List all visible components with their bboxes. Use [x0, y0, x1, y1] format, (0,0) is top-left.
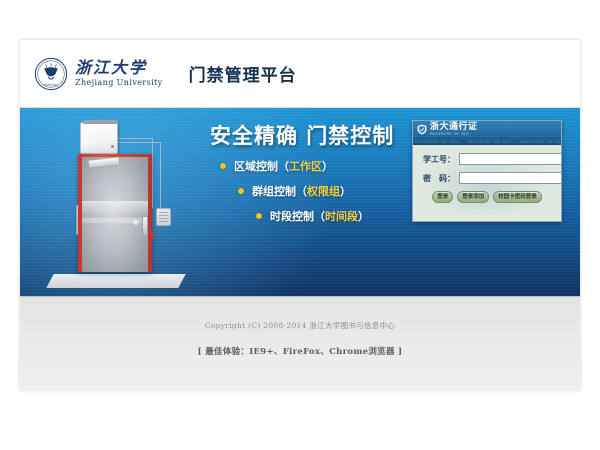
feature-label: 群组控制（ [252, 183, 307, 199]
door-leaf [82, 157, 148, 272]
user-id-label: 学工号： [419, 154, 455, 165]
strip-text: PASSPORT OF ZJU [415, 140, 459, 144]
login-panel: 浙大通行证 PASSPORT OF ZJU PASSPORT OF ZJU PA… [412, 120, 562, 222]
login-panel-strip: PASSPORT OF ZJU PASSPORT OF ZJU PASSPORT… [413, 138, 561, 145]
controller-box-icon [80, 122, 118, 154]
page-frame: ZHEJIANG 浙江大学 Zhejiang University 门禁管理平台 [20, 40, 580, 390]
hero-banner: 安全精确 门禁控制 区域控制（ 工作区 ） 群组控制（ 权限组 ） 时段控制（ … [20, 108, 580, 296]
wire-segment [160, 142, 161, 208]
banner-headline: 安全精确 门禁控制 [210, 120, 394, 150]
feature-tail: ） [322, 158, 333, 174]
university-name-en: Zhejiang University [75, 79, 163, 87]
copyright-text: Copyright (C) 2008-2014 浙江大学图书与信息中心 [205, 320, 395, 331]
login-button-row: 登录 登录添加 校园卡密码登录 [419, 191, 555, 203]
password-input[interactable] [459, 172, 562, 184]
list-item: 区域控制（ 工作区 ） [220, 158, 369, 174]
login-panel-header: 浙大通行证 PASSPORT OF ZJU [413, 121, 561, 138]
page-title: 门禁管理平台 [189, 61, 297, 86]
floor-plane [46, 274, 185, 288]
strip-text: PASSPORT OF ZJU [520, 140, 561, 144]
user-id-input[interactable] [459, 153, 562, 165]
university-wordmark: 浙江大学 Zhejiang University [75, 60, 163, 87]
login-panel-title-cn: 浙大通行证 [430, 123, 478, 132]
svg-text:ZHEJIANG: ZHEJIANG [44, 83, 59, 87]
bullet-dot-icon [238, 188, 244, 194]
login-add-button[interactable]: 登录添加 [457, 191, 489, 203]
strip-text: PASSPORT OF ZJU [468, 140, 512, 144]
door-frame [78, 154, 152, 272]
feature-accent: 时间段 [325, 208, 358, 224]
wire-segment [116, 142, 160, 143]
bullet-dot-icon [256, 213, 262, 219]
wire-segment [152, 138, 153, 208]
browser-support-note: [ 最佳体验：IE9+、FireFox、Chrome浏览器 ] [198, 345, 403, 357]
campus-card-login-button[interactable]: 校园卡密码登录 [493, 191, 542, 203]
password-row: 密 码： [419, 172, 555, 184]
zju-seal-icon: ZHEJIANG [34, 57, 68, 91]
wire-segment [116, 138, 152, 139]
access-control-door-illustration [42, 116, 190, 296]
feature-accent: 权限组 [307, 183, 340, 199]
site-header: ZHEJIANG 浙江大学 Zhejiang University 门禁管理平台 [20, 40, 580, 108]
list-item: 群组控制（ 权限组 ） [238, 183, 369, 199]
university-logo[interactable]: ZHEJIANG 浙江大学 Zhejiang University [34, 57, 163, 91]
user-id-row: 学工号： [419, 153, 555, 165]
site-footer: Copyright (C) 2008-2014 浙江大学图书与信息中心 [ 最佳… [20, 296, 580, 390]
password-label: 密 码： [419, 173, 455, 184]
login-panel-title-en: PASSPORT OF ZJU [430, 133, 478, 136]
door-strike-icon [150, 232, 154, 239]
login-panel-titles: 浙大通行证 PASSPORT OF ZJU [430, 123, 478, 136]
login-form: 学工号： 密 码： 登录 登录添加 校园卡密码登录 [413, 145, 561, 214]
feature-tail: ） [358, 208, 369, 224]
bullet-dot-icon [220, 163, 226, 169]
door-handle-icon [142, 216, 148, 236]
login-button[interactable]: 登录 [432, 191, 453, 203]
list-item: 时段控制（ 时间段 ） [256, 208, 369, 224]
university-name-cn: 浙江大学 [75, 60, 163, 76]
feature-label: 区域控制（ [234, 158, 289, 174]
shield-icon [417, 124, 427, 135]
feature-list: 区域控制（ 工作区 ） 群组控制（ 权限组 ） 时段控制（ 时间段 ） [220, 158, 369, 233]
feature-label: 时段控制（ [270, 208, 325, 224]
door-knob-icon [133, 220, 139, 226]
card-reader-icon [156, 208, 171, 226]
feature-accent: 工作区 [289, 158, 322, 174]
feature-tail: ） [340, 183, 351, 199]
